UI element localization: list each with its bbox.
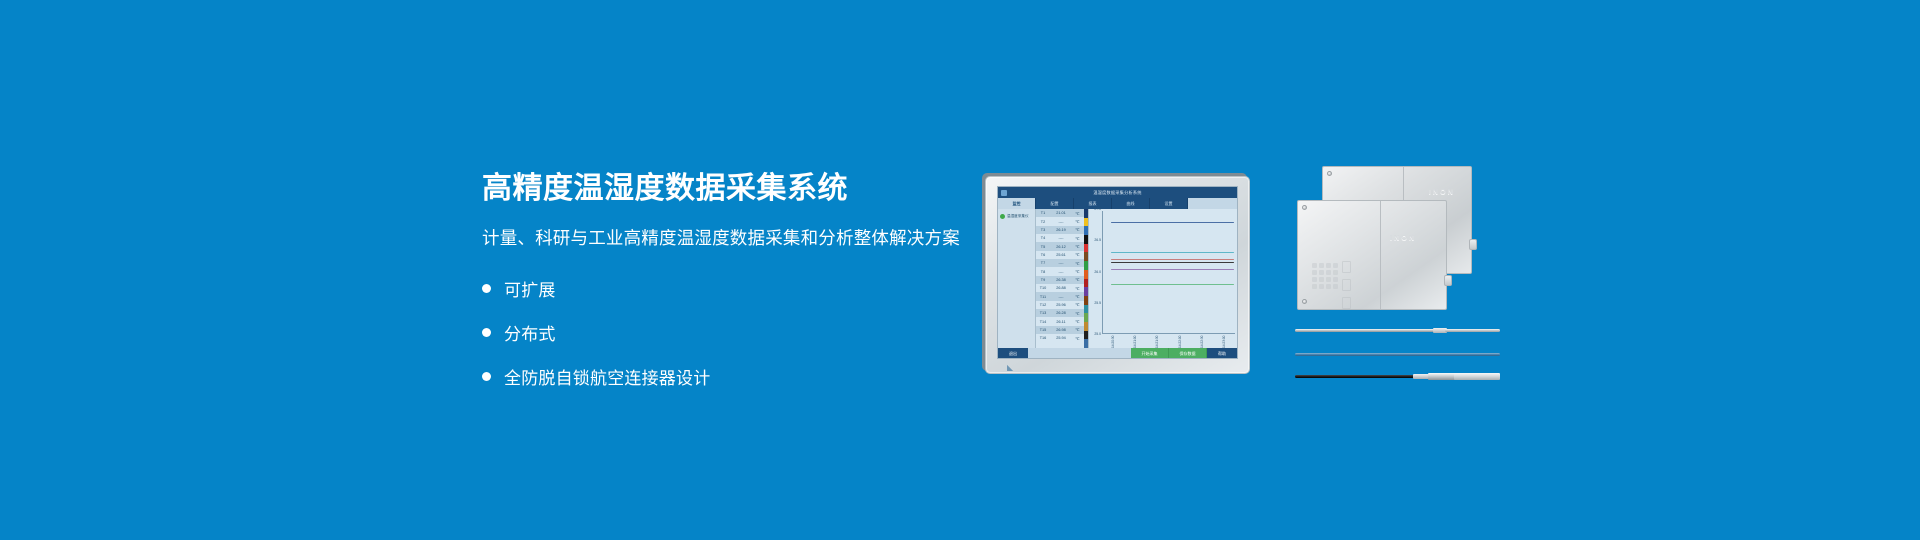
- probe-handle: [1454, 373, 1500, 381]
- table-row[interactable]: T326.19℃: [1036, 226, 1084, 234]
- probe-cable: [1295, 375, 1417, 378]
- probe-tip: [1445, 329, 1500, 333]
- x-axis-tick-label: 14:23:00: [1222, 334, 1226, 348]
- bullet-dot-icon: [482, 372, 491, 381]
- channel-unit: ℃: [1072, 302, 1083, 307]
- table-row[interactable]: T1526.98℃: [1036, 326, 1084, 334]
- channel-unit: ℃: [1072, 261, 1083, 266]
- start-acquisition-button[interactable]: 开始采集: [1131, 348, 1169, 359]
- connector-port-group: [1342, 261, 1351, 309]
- channel-name: T9: [1036, 278, 1050, 282]
- channel-name: T5: [1036, 245, 1050, 249]
- channel-name: T16: [1036, 336, 1050, 340]
- tab-monitor[interactable]: 监控: [998, 198, 1036, 209]
- monitor-screen: 温湿度数据采集分析系统 监控 配置 报表 曲线 设置: [997, 186, 1238, 359]
- channel-unit: ℃: [1072, 336, 1083, 341]
- channel-value: ----: [1050, 220, 1072, 224]
- hero-copy-block: 高精度温湿度数据采集系统 计量、科研与工业高精度温湿度数据采集和分析整体解决方案…: [482, 172, 952, 408]
- channel-name: T6: [1036, 253, 1050, 257]
- trend-chart: 27.026.526.025.525.0 14:20:3014:21:0014:…: [1088, 209, 1237, 348]
- brand-logo: INON: [1390, 235, 1416, 242]
- save-data-button[interactable]: 保存数据: [1169, 348, 1207, 359]
- table-row[interactable]: T526.12℃: [1036, 242, 1084, 250]
- channel-name: T12: [1036, 303, 1050, 307]
- product-image-group: 温湿度数据采集分析系统 监控 配置 报表 曲线 设置: [960, 160, 1540, 400]
- tree-node-label: 温湿度采集仪: [1007, 214, 1029, 219]
- table-row[interactable]: T11----℃: [1036, 292, 1084, 300]
- tab-report[interactable]: 报表: [1074, 198, 1112, 209]
- tree-node-device[interactable]: 温湿度采集仪: [998, 214, 1035, 219]
- probe-cable: [1295, 353, 1500, 356]
- screw-icon: [1302, 299, 1307, 304]
- y-axis-tick-label: 26.0: [1094, 270, 1101, 274]
- channel-unit: ℃: [1072, 319, 1083, 324]
- tab-bar-filler: [1188, 198, 1237, 209]
- list-item: 分布式: [482, 320, 952, 345]
- channel-value: 26.88: [1050, 286, 1072, 290]
- channel-value: ----: [1050, 261, 1072, 265]
- app-footer-bar: 退出 开始采集 保存数据 帮助: [998, 348, 1237, 359]
- table-row[interactable]: T926.38℃: [1036, 276, 1084, 284]
- chart-series-line: [1111, 262, 1234, 263]
- x-axis-tick-label: 14:20:30: [1111, 334, 1115, 348]
- channel-unit: ℃: [1072, 286, 1083, 291]
- channel-value: ----: [1050, 236, 1072, 240]
- channel-value: ----: [1050, 295, 1072, 299]
- tab-config[interactable]: 配置: [1036, 198, 1074, 209]
- x-axis-tick-label: 14:21:00: [1133, 334, 1137, 348]
- list-item: 全防脱自锁航空连接器设计: [482, 364, 952, 389]
- aviation-connector: [1428, 373, 1456, 379]
- page-subtitle: 计量、科研与工业高精度温湿度数据采集和分析整体解决方案: [482, 225, 952, 250]
- feature-label: 分布式: [504, 320, 556, 345]
- chart-series-line: [1111, 259, 1234, 260]
- table-row[interactable]: T1225.96℃: [1036, 301, 1084, 309]
- tab-settings[interactable]: 设置: [1150, 198, 1188, 209]
- bullet-dot-icon: [482, 284, 491, 293]
- terminal-block-pattern: [1312, 263, 1338, 289]
- channel-name: T13: [1036, 311, 1050, 315]
- chart-series-line: [1111, 284, 1234, 285]
- table-row[interactable]: T7----℃: [1036, 259, 1084, 267]
- x-axis-tick-label: 14:22:00: [1178, 334, 1182, 348]
- table-row[interactable]: T8----℃: [1036, 267, 1084, 275]
- channel-value: 25.96: [1050, 303, 1072, 307]
- channel-unit: ℃: [1072, 227, 1083, 232]
- channel-name: T14: [1036, 320, 1050, 324]
- acquisition-module-front: INON: [1297, 200, 1447, 310]
- channel-value: ----: [1050, 270, 1072, 274]
- channel-unit: ℃: [1072, 244, 1083, 249]
- chart-series-line: [1111, 269, 1234, 270]
- chart-series-line: [1111, 252, 1234, 253]
- channel-name: T8: [1036, 270, 1050, 274]
- table-row[interactable]: T1426.11℃: [1036, 317, 1084, 325]
- x-axis-tick-label: 14:21:30: [1155, 334, 1159, 348]
- chart-series-line: [1111, 222, 1234, 223]
- channel-value: 26.19: [1050, 228, 1072, 232]
- table-row[interactable]: T121.01℃: [1036, 209, 1084, 217]
- table-row[interactable]: T2----℃: [1036, 217, 1084, 225]
- channel-unit: ℃: [1072, 269, 1083, 274]
- page-title: 高精度温湿度数据采集系统: [482, 172, 952, 206]
- channel-unit: ℃: [1072, 277, 1083, 282]
- channel-unit: ℃: [1072, 327, 1083, 332]
- mounting-tab: [1444, 275, 1452, 286]
- y-axis-tick-label: 25.0: [1094, 332, 1101, 336]
- channel-value: 26.11: [1050, 320, 1072, 324]
- channel-unit: ℃: [1072, 294, 1083, 299]
- channel-value: 21.01: [1050, 211, 1072, 215]
- probe-shaft: [1295, 329, 1437, 332]
- channel-unit: ℃: [1072, 236, 1083, 241]
- channel-name: T10: [1036, 286, 1050, 290]
- channel-name: T2: [1036, 220, 1050, 224]
- help-button[interactable]: 帮助: [1207, 348, 1237, 359]
- table-row[interactable]: T625.61℃: [1036, 251, 1084, 259]
- chart-y-axis: 27.026.526.025.525.0: [1089, 209, 1102, 334]
- chart-plot-area: [1102, 211, 1235, 334]
- panel-pc-monitor: 温湿度数据采集分析系统 监控 配置 报表 曲线 设置: [985, 176, 1250, 374]
- app-tab-bar: 监控 配置 报表 曲线 设置: [998, 198, 1237, 209]
- table-row[interactable]: T4----℃: [1036, 234, 1084, 242]
- channel-value: 25.94: [1050, 336, 1072, 340]
- channel-unit: ℃: [1072, 252, 1083, 257]
- y-axis-tick-label: 26.5: [1094, 238, 1101, 242]
- stainless-rigid-probe: [1295, 328, 1500, 333]
- footer-spacer: [1028, 348, 1131, 359]
- bullet-dot-icon: [482, 328, 491, 337]
- channel-readout-table: T121.01℃T2----℃T326.19℃T4----℃T526.12℃T6…: [1036, 209, 1084, 348]
- channel-name: T1: [1036, 211, 1050, 215]
- channel-value: 25.61: [1050, 253, 1072, 257]
- app-body: 温湿度采集仪 T121.01℃T2----℃T326.19℃T4----℃T52…: [998, 209, 1237, 348]
- monitor-bezel: 温湿度数据采集分析系统 监控 配置 报表 曲线 设置: [985, 176, 1250, 374]
- list-item: 可扩展: [482, 276, 952, 301]
- monitor-logo-icon: ◣: [1007, 364, 1014, 371]
- table-row[interactable]: T1625.94℃: [1036, 334, 1084, 342]
- status-online-icon: [1000, 214, 1005, 219]
- channel-value: 26.98: [1050, 328, 1072, 332]
- x-axis-tick-label: 14:22:30: [1200, 334, 1204, 348]
- blue-cable-probe: [1295, 352, 1500, 357]
- channel-name: T11: [1036, 295, 1050, 299]
- product-hero-banner: 高精度温湿度数据采集系统 计量、科研与工业高精度温湿度数据采集和分析整体解决方案…: [0, 0, 1920, 540]
- feature-label: 可扩展: [504, 276, 556, 301]
- device-tree-panel: 温湿度采集仪: [998, 209, 1036, 348]
- chart-x-axis: 14:20:3014:21:0014:21:3014:22:0014:22:30…: [1102, 334, 1235, 348]
- table-row[interactable]: T1326.28℃: [1036, 309, 1084, 317]
- channel-unit: ℃: [1072, 219, 1083, 224]
- mounting-tab: [1469, 239, 1477, 250]
- y-axis-tick-label: 25.5: [1094, 301, 1101, 305]
- cable-ferrule: [1413, 374, 1429, 379]
- screw-icon: [1302, 205, 1307, 210]
- app-window-title: 温湿度数据采集分析系统: [998, 190, 1237, 196]
- screw-icon: [1327, 171, 1332, 176]
- channel-name: T4: [1036, 236, 1050, 240]
- channel-value: 26.28: [1050, 311, 1072, 315]
- channel-unit: ℃: [1072, 211, 1083, 216]
- enclosure-seam: [1380, 201, 1381, 309]
- exit-button[interactable]: 退出: [998, 348, 1028, 359]
- feature-list: 可扩展 分布式 全防脱自锁航空连接器设计: [482, 276, 952, 389]
- tab-curve[interactable]: 曲线: [1112, 198, 1150, 209]
- black-cable-aviation-connector-probe: [1295, 374, 1500, 379]
- channel-unit: ℃: [1072, 311, 1083, 316]
- channel-value: 26.12: [1050, 245, 1072, 249]
- channel-name: T3: [1036, 228, 1050, 232]
- brand-logo: INON: [1429, 189, 1455, 196]
- feature-label: 全防脱自锁航空连接器设计: [504, 364, 710, 389]
- table-row[interactable]: T1026.88℃: [1036, 284, 1084, 292]
- y-axis-tick-label: 27.0: [1094, 207, 1101, 211]
- channel-value: 26.38: [1050, 278, 1072, 282]
- channel-name: T7: [1036, 261, 1050, 265]
- app-titlebar: 温湿度数据采集分析系统: [998, 187, 1237, 198]
- channel-name: T15: [1036, 328, 1050, 332]
